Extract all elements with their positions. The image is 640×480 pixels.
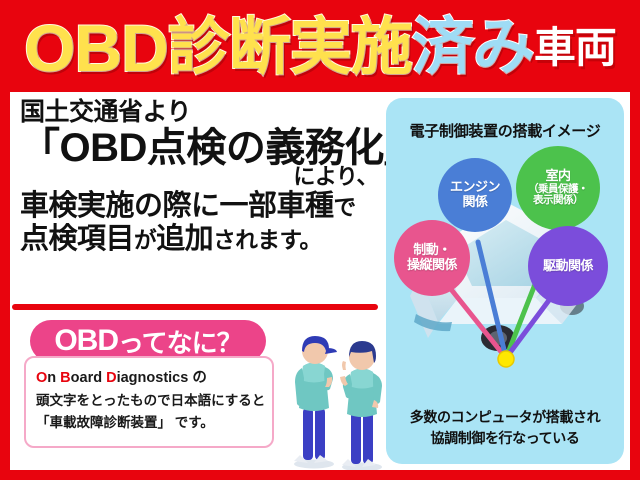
bubble-header-obd: OBD (54, 324, 118, 358)
bubble-txt-oard: oard (71, 370, 106, 386)
notice-line-2: 「OBD点検の義務化」 (20, 128, 382, 169)
node-drive-label: 駆動関係 (543, 259, 593, 274)
panel-caption: 多数のコンピュータが搭載され 協調制御を行なっている (386, 407, 624, 448)
panel-title: 電子制御装置の搭載イメージ (386, 120, 624, 141)
people-illustration (286, 304, 390, 470)
hub-dot (498, 351, 514, 367)
headline-sumi: 済み (412, 17, 534, 79)
obd-explainer-bubble: OBD ってなに？ On Board Diagnostics の 頭文字をとった… (24, 320, 274, 448)
node-engine: エンジン 関係 (438, 158, 512, 232)
panel-caption-line-2: 協調制御を行なっている (386, 428, 624, 448)
notice-line-5-b: が (134, 228, 156, 253)
notice-line-4-suffix: で (334, 195, 356, 220)
person-pointing (340, 341, 382, 470)
headline-obd: OBD (24, 15, 168, 81)
notice-line-1: 国土交通省より (20, 100, 382, 126)
node-engine-label: エンジン (450, 180, 500, 195)
notice-line-4: 車検実施の際に一部車種で (20, 192, 382, 222)
bubble-line-2: 頭文字をとったもので日本語にすると (36, 390, 264, 412)
bubble-txt-n: n (47, 370, 60, 386)
node-brake-sub: 操縦関係 (407, 258, 457, 273)
panel-caption-line-1: 多数のコンピュータが搭載され (386, 407, 624, 427)
node-brake-label: 制動・ (413, 243, 451, 258)
poster-root: OBD 診断実施 済み 車両 国土交通省より 「OBD点検の義務化」 により、 … (0, 0, 640, 480)
bubble-line-1: On Board Diagnostics の (36, 367, 264, 390)
bubble-body: On Board Diagnostics の 頭文字をとったもので日本語にすると… (24, 356, 274, 448)
headline-shindan-jisshi: 診断実施 (168, 17, 412, 79)
node-cabin-label: 室内 (545, 169, 570, 184)
person-with-cap (294, 336, 337, 469)
headline-sharyo: 車両 (534, 27, 616, 69)
bubble-txt-no: の (192, 370, 207, 386)
node-cabin-sub2: 表示関係） (533, 195, 583, 207)
notice-text-block: 国土交通省より 「OBD点検の義務化」 により、 車検実施の際に一部車種で 点検… (20, 100, 382, 255)
notice-line-5-c: 追加 (156, 223, 213, 255)
bubble-header-question: ってなに？ (118, 323, 242, 360)
bubble-line-3: 「車載故障診断装置」 です。 (36, 412, 264, 434)
node-drive: 駆動関係 (528, 226, 608, 306)
notice-line-4-main: 車検実施の際に一部車種 (20, 190, 334, 222)
notice-line-5-a: 点検項目 (20, 223, 134, 255)
notice-line-5-d: されます。 (213, 228, 321, 253)
notice-line-5: 点検項目が追加されます。 (20, 225, 382, 255)
node-cabin: 室内 （乗員保護・ 表示関係） (516, 146, 600, 230)
node-brake-steering: 制動・ 操縦関係 (394, 220, 470, 296)
node-engine-sub: 関係 (462, 195, 487, 210)
left-column: 国土交通省より 「OBD点検の義務化」 により、 車検実施の際に一部車種で 点検… (10, 92, 386, 470)
content-card: 国土交通省より 「OBD点検の義務化」 により、 車検実施の際に一部車種で 点検… (10, 92, 630, 470)
bubble-txt-iagnostics: iagnostics (117, 370, 193, 386)
bubble-cap-b: B (60, 370, 70, 386)
ecu-diagram-panel: 電子制御装置の搭載イメージ (386, 98, 624, 464)
bubble-cap-d: D (106, 370, 116, 386)
notice-line-3: により、 (20, 166, 382, 188)
bubble-cap-o: O (36, 370, 47, 386)
headline-banner: OBD 診断実施 済み 車両 (0, 0, 640, 92)
